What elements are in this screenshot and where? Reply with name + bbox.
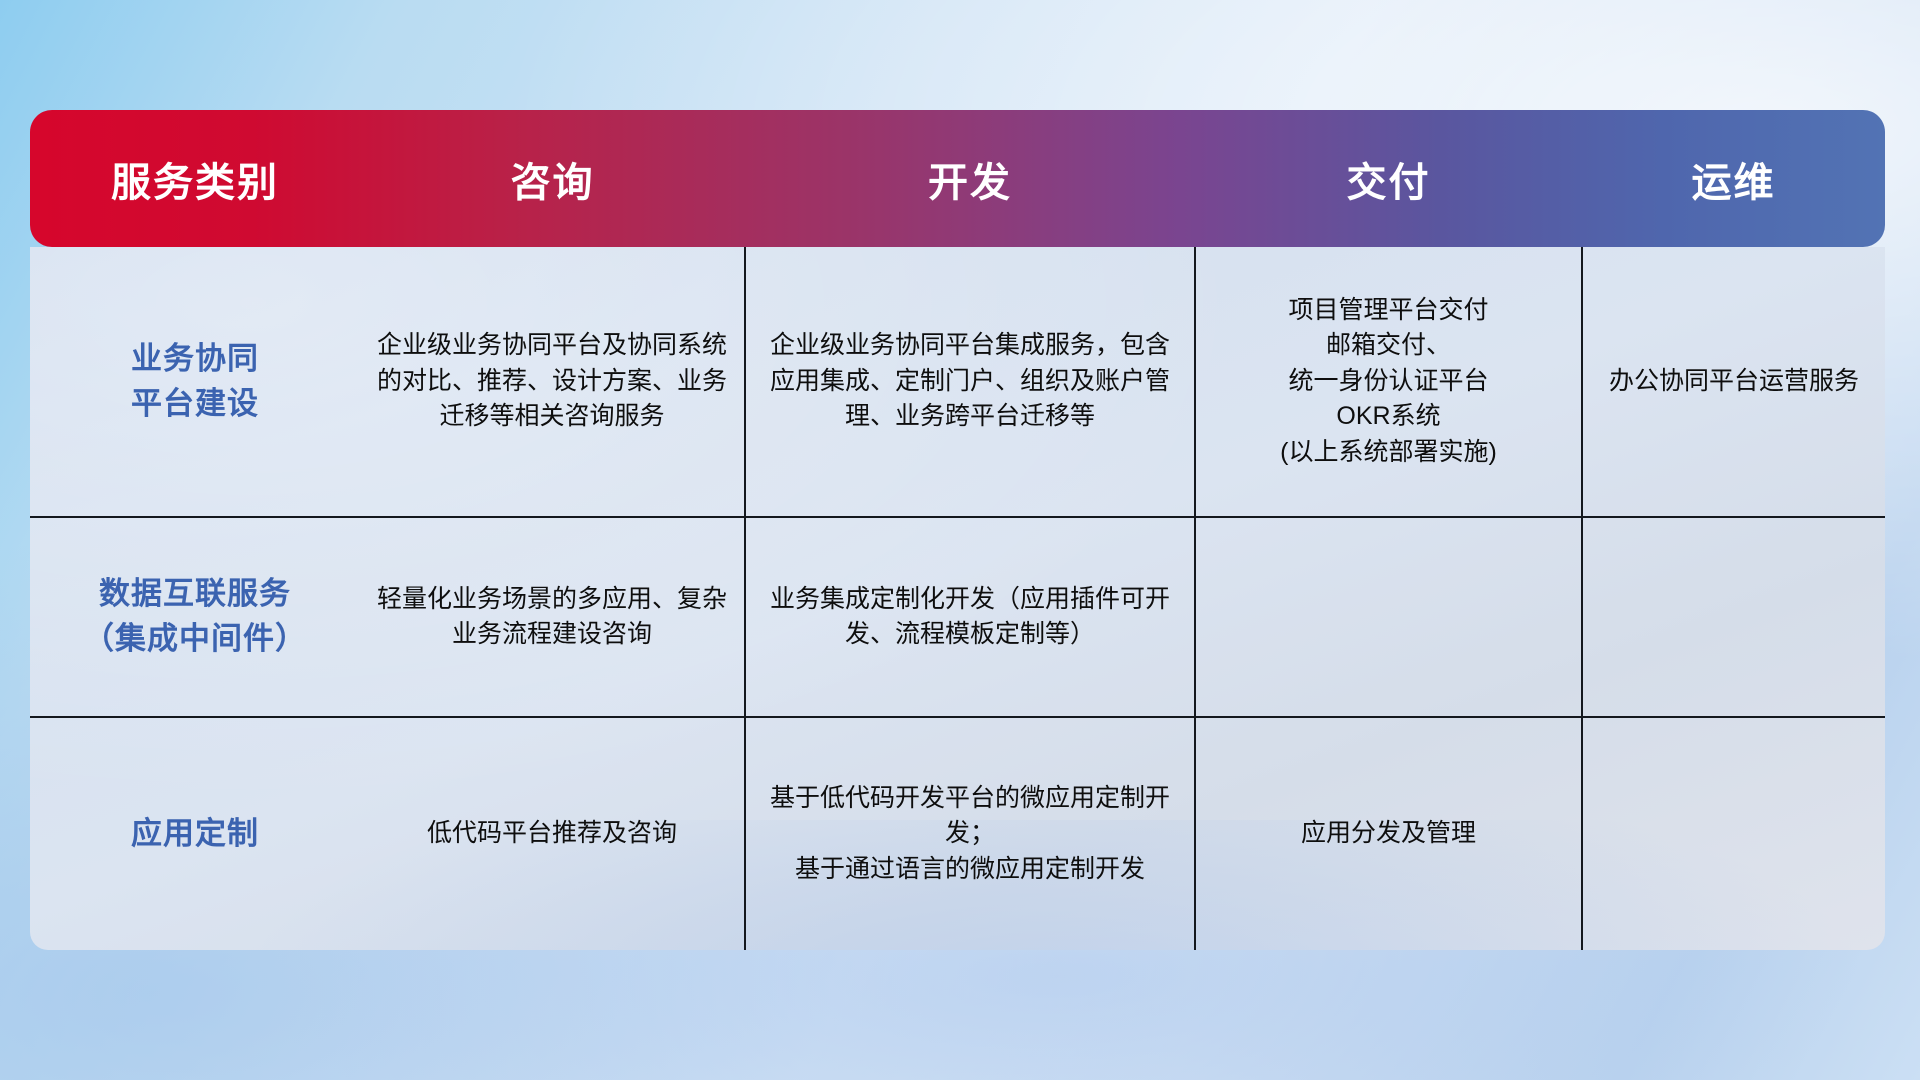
column-header-category[interactable]: 服务类别: [30, 110, 360, 247]
service-matrix-table: 服务类别 咨询 开发 交付 运维: [30, 110, 1885, 950]
column-header-development-label: 开发: [745, 150, 1195, 208]
cell-consulting-1: 企业级业务协同平台及协同系统的对比、推荐、设计方案、业务迁移等相关咨询服务: [360, 247, 745, 517]
cell-development-2: 业务集成定制化开发（应用插件可开发、流程模板定制等）: [745, 517, 1195, 717]
cell-operations-2: [1582, 517, 1885, 717]
cell-delivery-1: 项目管理平台交付邮箱交付、统一身份认证平台OKR系统(以上系统部署实施): [1195, 247, 1582, 517]
table-row: 业务协同平台建设 企业级业务协同平台及协同系统的对比、推荐、设计方案、业务迁移等…: [30, 247, 1885, 517]
cell-consulting-2: 轻量化业务场景的多应用、复杂业务流程建设咨询: [360, 517, 745, 717]
column-header-operations-label: 运维: [1582, 150, 1885, 208]
table-row: 应用定制 低代码平台推荐及咨询 基于低代码开发平台的微应用定制开发；基于通过语言…: [30, 717, 1885, 950]
cell-delivery-3: 应用分发及管理: [1195, 717, 1582, 950]
cell-operations-1: 办公协同平台运营服务: [1582, 247, 1885, 517]
column-header-development[interactable]: 开发: [745, 110, 1195, 247]
cell-category-2: 数据互联服务（集成中间件）: [30, 517, 360, 717]
slide-canvas: 服务类别 咨询 开发 交付 运维: [0, 0, 1920, 1080]
cell-operations-3: [1582, 717, 1885, 950]
column-header-delivery-label: 交付: [1195, 150, 1582, 208]
column-header-operations[interactable]: 运维: [1582, 110, 1885, 247]
table-row: 数据互联服务（集成中间件） 轻量化业务场景的多应用、复杂业务流程建设咨询 业务集…: [30, 517, 1885, 717]
table-body: 业务协同平台建设 企业级业务协同平台及协同系统的对比、推荐、设计方案、业务迁移等…: [30, 247, 1885, 950]
cell-development-3: 基于低代码开发平台的微应用定制开发；基于通过语言的微应用定制开发: [745, 717, 1195, 950]
cell-consulting-3: 低代码平台推荐及咨询: [360, 717, 745, 950]
column-header-consulting[interactable]: 咨询: [360, 110, 745, 247]
cell-development-1: 企业级业务协同平台集成服务，包含应用集成、定制门户、组织及账户管理、业务跨平台迁…: [745, 247, 1195, 517]
cell-delivery-2: [1195, 517, 1582, 717]
cell-category-1: 业务协同平台建设: [30, 247, 360, 517]
column-header-delivery[interactable]: 交付: [1195, 110, 1582, 247]
cell-category-3: 应用定制: [30, 717, 360, 950]
column-header-category-label: 服务类别: [30, 150, 360, 208]
column-header-consulting-label: 咨询: [360, 150, 745, 208]
service-table: 服务类别 咨询 开发 交付 运维: [30, 110, 1885, 950]
table-header: 服务类别 咨询 开发 交付 运维: [30, 110, 1885, 247]
table-header-row: 服务类别 咨询 开发 交付 运维: [30, 110, 1885, 247]
